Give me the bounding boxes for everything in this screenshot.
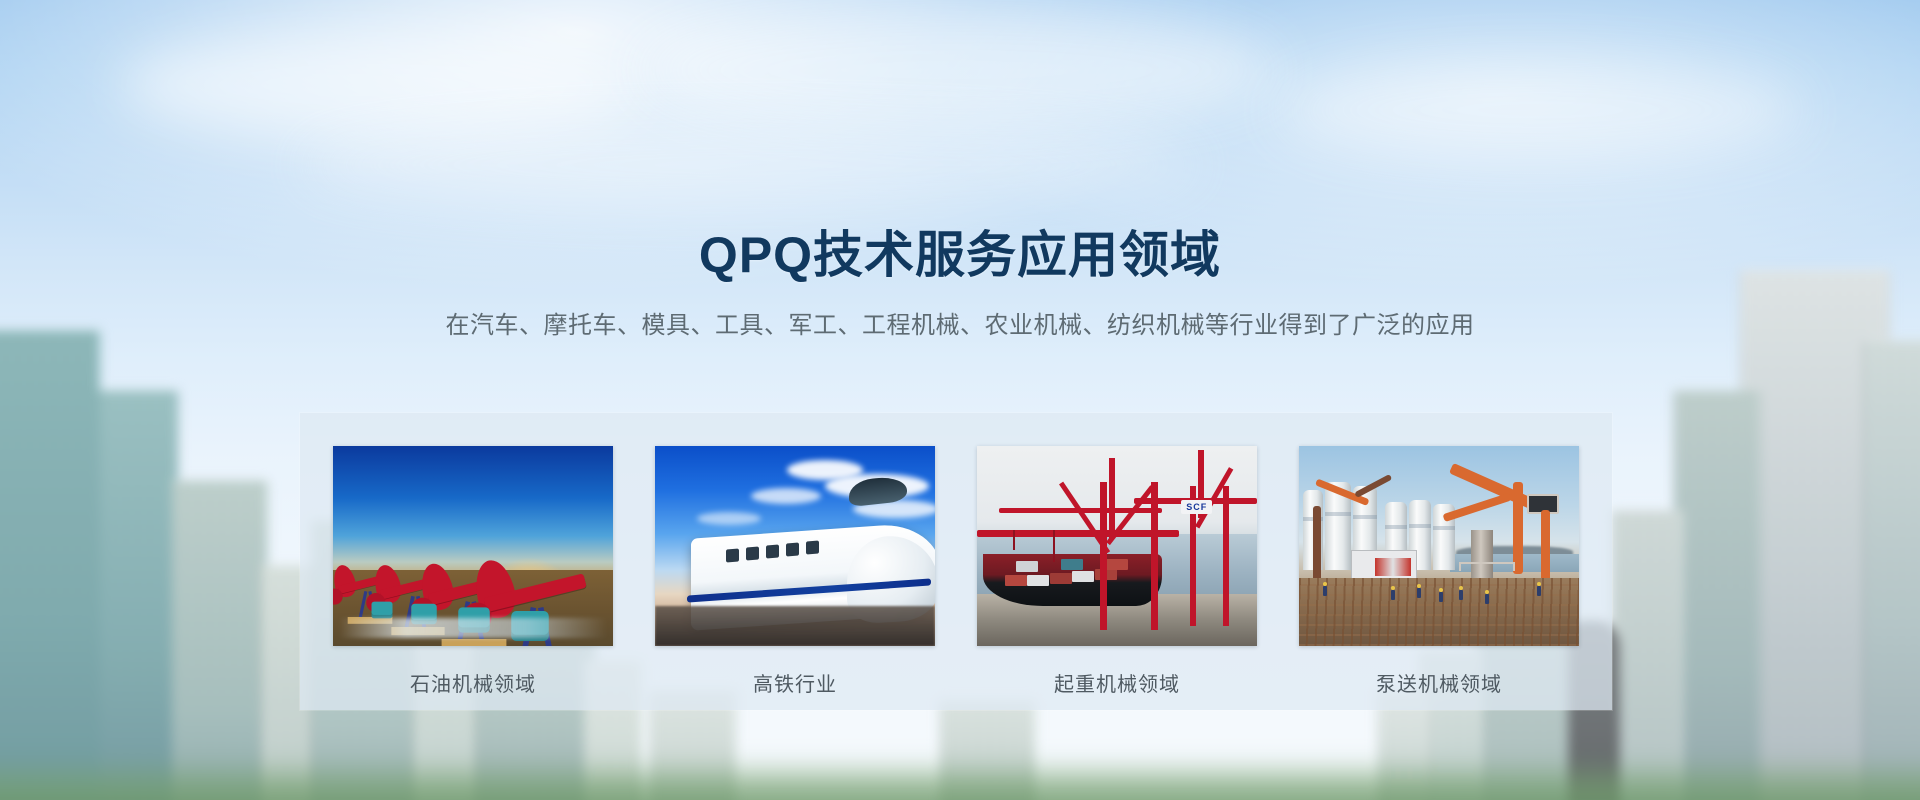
container bbox=[1106, 559, 1128, 570]
high-speed-train-photo[interactable] bbox=[655, 446, 935, 646]
card-high-speed-rail[interactable]: 高铁行业 bbox=[655, 446, 935, 697]
train-window bbox=[806, 541, 819, 555]
container bbox=[1016, 561, 1038, 572]
container bbox=[1050, 573, 1072, 584]
port-gantry-cranes-photo[interactable]: SCF bbox=[977, 446, 1257, 646]
card-caption: 起重机械领域 bbox=[977, 668, 1257, 697]
card-oil-machinery[interactable]: 石油机械领域 bbox=[333, 446, 613, 697]
worker bbox=[1417, 588, 1421, 598]
worker bbox=[1391, 590, 1395, 600]
snow-patch bbox=[339, 618, 608, 638]
tree-line bbox=[0, 758, 1920, 800]
cloud bbox=[697, 512, 761, 525]
building bbox=[1864, 340, 1920, 800]
train-window bbox=[746, 547, 759, 561]
container bbox=[1072, 571, 1094, 582]
page-subtitle: 在汽车、摩托车、模具、工具、军工、工程机械、农业机械、纺织机械等行业得到了广泛的… bbox=[0, 305, 1920, 340]
worker bbox=[1459, 590, 1463, 600]
crane-leg bbox=[1223, 486, 1229, 626]
building bbox=[172, 480, 268, 800]
worker bbox=[1323, 586, 1327, 596]
container bbox=[1005, 575, 1027, 586]
crane-cable bbox=[1013, 530, 1015, 550]
scf-logo-marking: SCF bbox=[1181, 500, 1212, 514]
card-lifting-machinery[interactable]: SCF 起重机械领域 bbox=[977, 446, 1257, 697]
building bbox=[100, 390, 178, 800]
card-caption: 泵送机械领域 bbox=[1299, 668, 1579, 697]
header: QPQ技术服务应用领域 在汽车、摩托车、模具、工具、军工、工程机械、农业机械、纺… bbox=[0, 0, 1920, 340]
card-caption: 石油机械领域 bbox=[333, 668, 613, 697]
worker bbox=[1485, 594, 1489, 604]
pump-boom-arm bbox=[1313, 506, 1321, 586]
railway-track bbox=[655, 606, 935, 646]
pump-boom-arm bbox=[1513, 482, 1523, 574]
oil-pumpjacks-photo[interactable] bbox=[333, 446, 613, 646]
card-list: 石油机械领域 高铁行业 bbox=[333, 446, 1579, 697]
building bbox=[1612, 510, 1684, 800]
worker bbox=[1439, 592, 1443, 602]
application-fields-panel: 石油机械领域 高铁行业 bbox=[300, 413, 1612, 710]
site-banner bbox=[1375, 558, 1411, 576]
worker bbox=[1537, 586, 1541, 596]
card-caption: 高铁行业 bbox=[655, 668, 935, 697]
building bbox=[1674, 390, 1760, 800]
cloud bbox=[751, 488, 821, 504]
crane-boom bbox=[977, 530, 1179, 537]
page-title: QPQ技术服务应用领域 bbox=[0, 228, 1920, 283]
train-window bbox=[726, 549, 739, 563]
crane-leg bbox=[1151, 482, 1158, 630]
crane-cable bbox=[1053, 530, 1055, 562]
wellhead-pump bbox=[372, 602, 393, 619]
crane-leg bbox=[1100, 482, 1107, 630]
building bbox=[0, 330, 100, 800]
concrete-pump-site-photo[interactable] bbox=[1299, 446, 1579, 646]
train-window bbox=[766, 545, 779, 559]
platform-railing bbox=[1459, 562, 1515, 571]
container bbox=[1061, 559, 1083, 570]
card-pumping-machinery[interactable]: 泵送机械领域 bbox=[1299, 446, 1579, 697]
crane-tower bbox=[1109, 458, 1115, 538]
train-window bbox=[786, 543, 799, 557]
container bbox=[1027, 575, 1049, 586]
